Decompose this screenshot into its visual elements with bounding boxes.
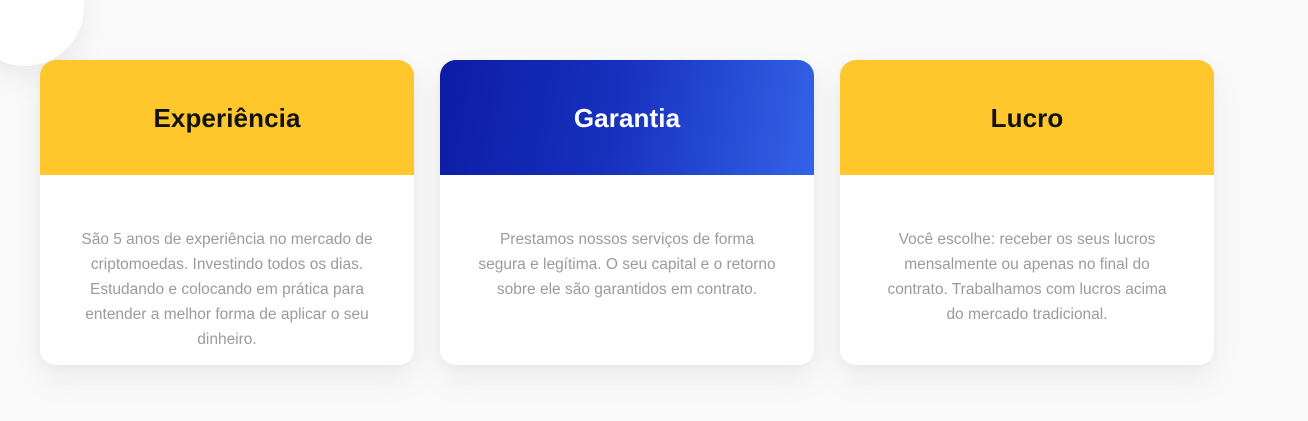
card-body-experiencia: São 5 anos de experiência no mercado de … <box>40 175 414 365</box>
card-header-experiencia: Experiência <box>40 60 414 175</box>
card-body-lucro: Você escolhe: receber os seus lucros men… <box>840 175 1214 365</box>
feature-card-experiencia[interactable]: Experiência São 5 anos de experiência no… <box>40 60 414 365</box>
card-header-lucro: Lucro <box>840 60 1214 175</box>
feature-card-garantia[interactable]: Garantia Prestamos nossos serviços de fo… <box>440 60 814 365</box>
card-text-lucro: Você escolhe: receber os seus lucros men… <box>877 227 1177 327</box>
card-title-lucro: Lucro <box>991 105 1064 131</box>
card-title-garantia: Garantia <box>574 105 680 131</box>
card-text-experiencia: São 5 anos de experiência no mercado de … <box>77 227 377 352</box>
card-title-experiencia: Experiência <box>153 105 300 131</box>
card-body-garantia: Prestamos nossos serviços de forma segur… <box>440 175 814 365</box>
feature-card-lucro[interactable]: Lucro Você escolhe: receber os seus lucr… <box>840 60 1214 365</box>
card-header-garantia: Garantia <box>440 60 814 175</box>
page-stage: Experiência São 5 anos de experiência no… <box>0 0 1308 421</box>
feature-cards-row: Experiência São 5 anos de experiência no… <box>40 60 1214 365</box>
card-text-garantia: Prestamos nossos serviços de forma segur… <box>477 227 777 302</box>
decorative-circle <box>0 0 84 66</box>
